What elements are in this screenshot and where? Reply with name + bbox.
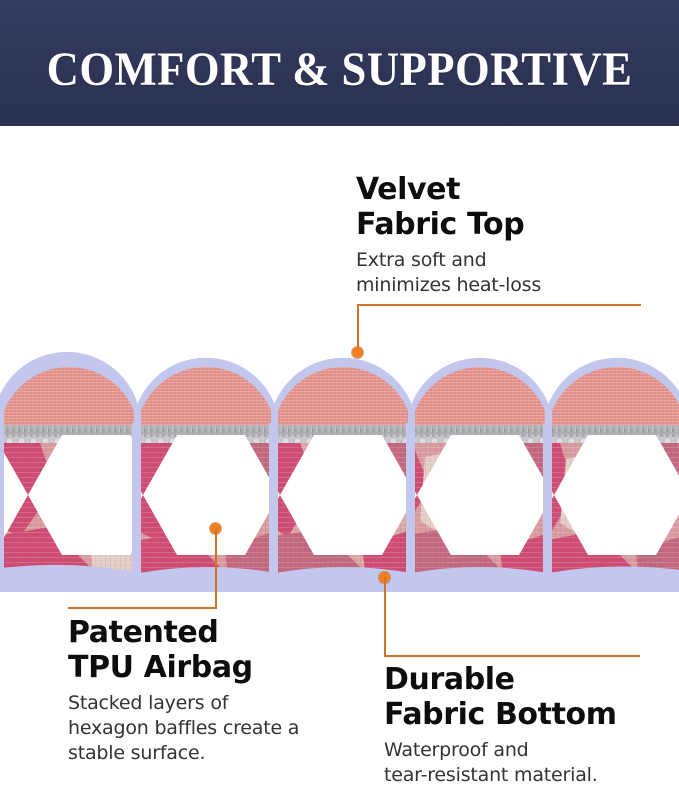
callout-title-bottom: Durable Fabric Bottom	[384, 662, 674, 732]
callout-patented-tpu-airbag: Patented TPU Airbag Stacked layers of he…	[68, 615, 368, 766]
page-title: COMFORT & SUPPORTIVE	[24, 44, 655, 96]
callout-rule-velvet	[357, 304, 641, 306]
callout-durable-fabric-bottom: Durable Fabric Bottom Waterproof and tea…	[384, 662, 674, 788]
header-banner: COMFORT & SUPPORTIVE	[0, 0, 679, 126]
callout-rule-tpu	[68, 607, 217, 609]
callout-title-line2: Fabric Bottom	[384, 697, 674, 732]
callout-rule-bottom	[384, 655, 640, 657]
callout-body-line1: Extra soft and	[356, 248, 656, 273]
callout-body-line3: stable surface.	[68, 741, 368, 766]
callout-title-velvet: Velvet Fabric Top	[356, 172, 656, 242]
callout-title-line1: Durable	[384, 662, 674, 697]
callout-body-line2: hexagon baffles create a	[68, 716, 368, 741]
callout-stem-bottom	[384, 577, 386, 657]
callout-body-line2: tear-resistant material.	[384, 763, 674, 788]
callout-stem-tpu	[215, 528, 217, 608]
mattress-diagram	[0, 337, 679, 592]
callout-body-line1: Stacked layers of	[68, 691, 368, 716]
callout-body-velvet: Extra soft and minimizes heat-loss	[356, 248, 656, 298]
callout-body-line1: Waterproof and	[384, 738, 674, 763]
callout-body-line2: minimizes heat-loss	[356, 273, 656, 298]
callout-title-line2: Fabric Top	[356, 207, 656, 242]
callout-title-tpu: Patented TPU Airbag	[68, 615, 368, 685]
product-cross-section-image	[0, 337, 679, 592]
callout-title-line2: TPU Airbag	[68, 650, 368, 685]
callout-dot-velvet[interactable]	[352, 347, 363, 358]
callout-stem-velvet	[357, 304, 359, 353]
callout-title-line1: Patented	[68, 615, 368, 650]
base-strip	[0, 565, 679, 592]
callout-body-tpu: Stacked layers of hexagon baffles create…	[68, 691, 368, 766]
callout-title-line1: Velvet	[356, 172, 656, 207]
callout-velvet-fabric-top: Velvet Fabric Top Extra soft and minimiz…	[356, 172, 656, 298]
